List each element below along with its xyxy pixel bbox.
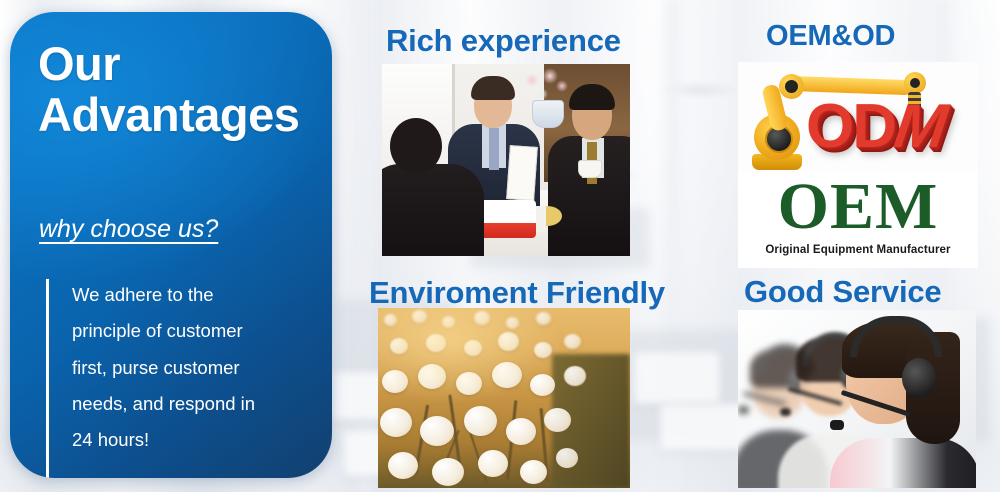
cotton-boll [530, 374, 555, 396]
agent-front-microphone [830, 420, 844, 430]
photo-business-meeting [382, 64, 630, 256]
cotton-boll [382, 370, 408, 393]
heading-oem-od: OEM&OD [766, 20, 895, 53]
photo-cotton-field [378, 308, 630, 488]
meeting-vase [532, 100, 564, 128]
page-title-line-2: Advantages [38, 91, 299, 139]
cotton-boll [464, 406, 497, 436]
heading-enviroment-friendly: Enviroment Friendly [369, 275, 665, 311]
odm-letter-m: M [891, 96, 949, 158]
panel-body-line-4: needs, and respond in [72, 386, 308, 422]
meeting-person-center-hair [471, 76, 515, 100]
agent-middle-microphone [780, 408, 791, 416]
meeting-takeout-cup [478, 200, 536, 238]
odm-letter-o: O [806, 92, 852, 161]
cotton-boll [498, 332, 519, 351]
cotton-boll [380, 408, 412, 437]
vertical-rule-divider [46, 279, 49, 478]
panel-body: We adhere to the principle of customer f… [46, 277, 308, 458]
cotton-boll [388, 452, 418, 479]
cotton-boll [456, 372, 482, 395]
cotton-boll [564, 366, 586, 386]
meeting-menu-card [506, 145, 538, 201]
robot-arm-joint-elbow [779, 74, 804, 99]
cotton-boll [492, 362, 522, 388]
panel-body-line-3: first, purse customer [72, 350, 308, 386]
agent-back-microphone [738, 406, 749, 414]
odm-letter-d: D [852, 92, 895, 161]
cotton-boll [474, 311, 490, 325]
meeting-person-left-head [390, 118, 442, 174]
cotton-boll [420, 416, 454, 446]
oem-subtitle: Original Equipment Manufacturer [738, 244, 978, 256]
background-bale [634, 352, 720, 404]
panel-body-line-2: principle of customer [72, 313, 308, 349]
meeting-noodles [532, 206, 562, 226]
panel-subtitle: why choose us? [39, 215, 218, 244]
our-advantages-panel: Our Advantages why choose us? We adhere … [10, 12, 332, 478]
page-title-line-1: Our [38, 40, 299, 88]
cotton-boll [564, 334, 581, 349]
cotton-boll [426, 334, 446, 352]
meeting-teacup [578, 160, 602, 178]
meeting-person-left-body [382, 164, 484, 256]
agent-front-body [830, 438, 976, 488]
cotton-boll [506, 317, 519, 329]
cotton-boll [534, 342, 552, 358]
meeting-person-center-tie [489, 128, 499, 170]
cotton-boll [520, 460, 547, 484]
cotton-boll [464, 340, 482, 356]
odm-wordmark: ODM [806, 96, 945, 158]
cotton-boll [432, 458, 464, 486]
cotton-boll [556, 448, 578, 468]
photo-call-center [738, 310, 976, 488]
agent-front-headset-earcup [902, 358, 936, 398]
oem-wordmark: OEM [738, 174, 978, 240]
photo-oem-logo: OEM Original Equipment Manufacturer [738, 172, 978, 268]
panel-body-line-1: We adhere to the [72, 277, 308, 313]
cotton-boll [418, 364, 446, 389]
cotton-boll [544, 408, 571, 432]
heading-rich-experience: Rich experience [386, 23, 621, 59]
cotton-boll [506, 418, 536, 445]
page-title: Our Advantages [38, 40, 299, 139]
cotton-boll [390, 338, 408, 354]
cotton-boll [442, 316, 455, 328]
cotton-boll [478, 450, 508, 477]
cotton-boll [536, 312, 551, 325]
robot-arm-joint-wrist [904, 72, 926, 94]
cotton-boll [412, 310, 427, 323]
cotton-boll [384, 314, 397, 326]
heading-good-service: Good Service [744, 274, 941, 310]
panel-body-line-5: 24 hours! [72, 422, 308, 458]
